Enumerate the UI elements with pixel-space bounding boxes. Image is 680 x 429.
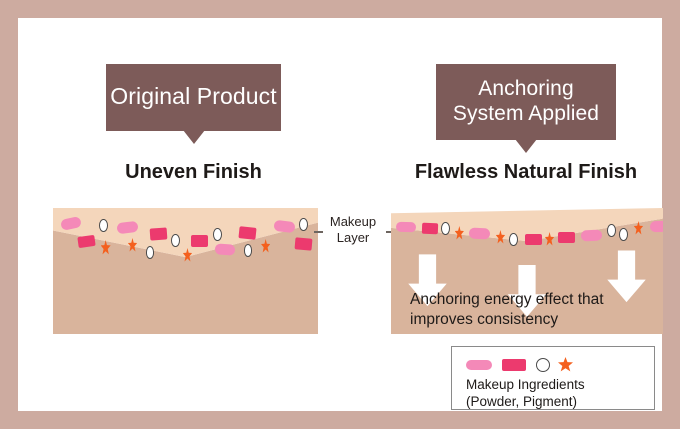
- particle-rect-dark-pink-icon: [525, 234, 542, 245]
- badge-original-product-label: Original Product: [106, 64, 281, 110]
- badge-anchoring-line2: System Applied: [453, 102, 599, 125]
- legend-star-orange-icon: [558, 357, 573, 372]
- legend-caption: Makeup Ingredients (Powder, Pigment): [466, 376, 654, 411]
- particle-pill-light-pink-icon: [396, 222, 416, 233]
- anchoring-effect-caption-line1: Anchoring energy effect that: [410, 290, 650, 310]
- particle-circle-outline-icon: [213, 228, 222, 241]
- badge-tail-icon: [515, 139, 537, 153]
- legend-caption-line1: Makeup Ingredients: [466, 376, 654, 393]
- particle-circle-outline-icon: [441, 222, 450, 235]
- badge-original-product: Original Product: [106, 64, 281, 131]
- subheading-flawless-natural-finish: Flawless Natural Finish: [406, 161, 646, 184]
- particle-rect-dark-pink-icon: [294, 237, 312, 250]
- diagram-original-product: [53, 208, 318, 334]
- particle-rect-dark-pink-icon: [558, 232, 575, 243]
- particle-rect-dark-pink-icon: [77, 235, 95, 248]
- particle-pill-light-pink-icon: [214, 243, 235, 255]
- makeup-layer-label-line1: Makeup: [321, 214, 385, 230]
- infographic-root: Original Product Uneven Finish Anchoring…: [0, 0, 680, 429]
- anchoring-effect-caption-line2: improves consistency: [410, 310, 650, 330]
- content-card: Original Product Uneven Finish Anchoring…: [18, 18, 662, 411]
- particle-circle-outline-icon: [171, 234, 180, 247]
- legend-box: Makeup Ingredients (Powder, Pigment): [451, 346, 655, 410]
- particle-pill-light-pink-icon: [650, 221, 663, 233]
- particle-rect-dark-pink-icon: [238, 226, 256, 240]
- legend-circle-outline-icon: [536, 358, 550, 372]
- badge-tail-icon: [183, 130, 205, 144]
- legend-rect-dark-pink-icon: [502, 359, 526, 371]
- particle-pill-light-pink-icon: [469, 227, 491, 239]
- legend-icon-row: [466, 356, 654, 374]
- particle-circle-outline-icon: [607, 224, 616, 237]
- anchoring-effect-caption: Anchoring energy effect that improves co…: [410, 290, 650, 331]
- subheading-uneven-finish: Uneven Finish: [106, 161, 281, 184]
- particle-circle-outline-icon: [509, 233, 518, 246]
- makeup-layer-label-line2: Layer: [321, 230, 385, 246]
- particle-circle-outline-icon: [99, 219, 108, 232]
- makeup-layer-label: Makeup Layer: [321, 214, 385, 247]
- particle-circle-outline-icon: [299, 218, 308, 231]
- particle-rect-dark-pink-icon: [150, 227, 168, 240]
- particle-rect-dark-pink-icon: [191, 235, 208, 247]
- legend-pill-light-pink-icon: [466, 360, 492, 370]
- badge-anchoring-line1: Anchoring: [436, 64, 616, 102]
- particle-circle-outline-icon: [619, 228, 628, 241]
- particle-pill-light-pink-icon: [580, 229, 602, 241]
- particle-rect-dark-pink-icon: [421, 223, 437, 235]
- legend-caption-line2: (Powder, Pigment): [466, 393, 654, 410]
- badge-anchoring-system: Anchoring System Applied: [436, 64, 616, 140]
